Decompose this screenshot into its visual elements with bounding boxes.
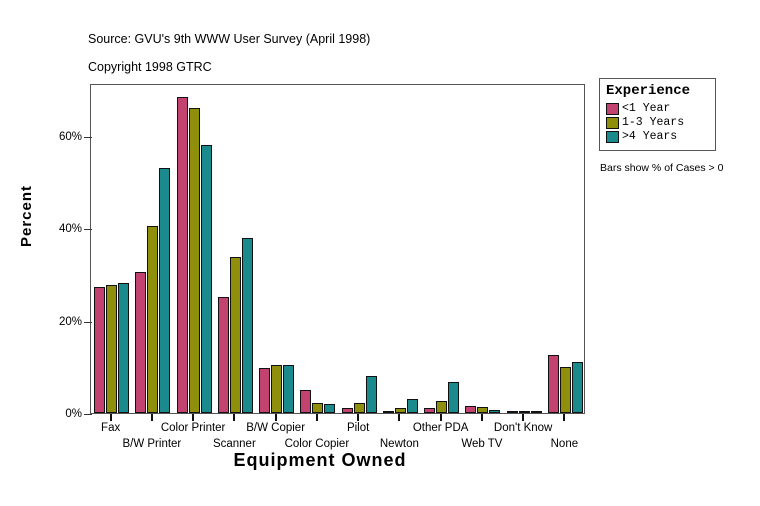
x-axis-tick-label: B/W Printer: [122, 438, 181, 450]
bar: [324, 404, 335, 413]
x-axis-tick-label: None: [551, 438, 579, 450]
x-axis-tick-label: Color Printer: [161, 422, 226, 434]
legend-swatch-icon: [606, 117, 619, 129]
bar: [312, 403, 323, 413]
legend-entry: >4 Years: [606, 130, 709, 143]
bar: [189, 108, 200, 413]
bar: [366, 376, 377, 413]
bar: [531, 411, 542, 413]
bar: [259, 368, 270, 413]
copyright-annotation: Copyright 1998 GTRC: [88, 60, 212, 74]
bar: [383, 411, 394, 413]
bar-group: [339, 85, 380, 413]
legend-entry-label: >4 Years: [622, 130, 677, 143]
bar-group: [462, 85, 503, 413]
bar: [477, 407, 488, 413]
legend-entry-label: <1 Year: [622, 102, 670, 115]
legend-entries: <1 Year1-3 Years>4 Years: [606, 102, 709, 143]
bar: [242, 238, 253, 413]
bar: [489, 410, 500, 413]
legend-swatch-icon: [606, 131, 619, 143]
x-axis-tick-label: Fax: [101, 422, 120, 434]
bar: [106, 285, 117, 413]
bar-group: [504, 85, 545, 413]
bar: [548, 355, 559, 413]
chart-plot-area: [90, 84, 585, 414]
bar: [407, 399, 418, 413]
bar: [283, 365, 294, 413]
y-axis-tick-label: 20%: [59, 316, 82, 328]
y-axis-tick-mark: [84, 229, 92, 230]
bar-group: [297, 85, 338, 413]
bar: [519, 411, 530, 413]
bar: [507, 411, 518, 413]
y-axis-tick-mark: [84, 322, 92, 323]
bar: [424, 408, 435, 413]
legend-entry: 1-3 Years: [606, 116, 709, 129]
y-axis-tick-label: 60%: [59, 131, 82, 143]
bar-group: [421, 85, 462, 413]
bars-layer: [91, 85, 584, 413]
bar-group: [380, 85, 421, 413]
bar: [218, 297, 229, 413]
x-axis-tick-label: Color Copier: [285, 438, 350, 450]
x-axis-tick-label: Newton: [380, 438, 419, 450]
bar-group: [91, 85, 132, 413]
bar: [354, 403, 365, 413]
source-annotation: Source: GVU's 9th WWW User Survey (April…: [88, 32, 370, 46]
bar: [560, 367, 571, 413]
legend-note: Bars show % of Cases > 0: [600, 162, 723, 174]
x-axis-tick-label: Scanner: [213, 438, 256, 450]
bar-group: [174, 85, 215, 413]
x-axis-tick-label: Don't Know: [494, 422, 552, 434]
x-axis-tick-label: Pilot: [347, 422, 369, 434]
bar: [395, 408, 406, 413]
bar-group: [256, 85, 297, 413]
y-axis-tick-label: 0%: [65, 408, 82, 420]
bar-group: [132, 85, 173, 413]
bar: [118, 283, 129, 413]
y-axis-title: Percent: [18, 185, 35, 247]
bar: [147, 226, 158, 413]
bar: [342, 408, 353, 413]
y-axis-tick-label: 40%: [59, 223, 82, 235]
bar: [230, 257, 241, 413]
bar: [201, 145, 212, 413]
legend: Experience <1 Year1-3 Years>4 Years: [599, 78, 716, 151]
bar: [159, 168, 170, 413]
legend-swatch-icon: [606, 103, 619, 115]
bar: [177, 97, 188, 413]
x-axis-tick-label: Other PDA: [413, 422, 469, 434]
bar: [448, 382, 459, 413]
legend-entry: <1 Year: [606, 102, 709, 115]
bar: [436, 401, 447, 413]
bar: [572, 362, 583, 413]
y-axis-tick-mark: [84, 137, 92, 138]
bar-group: [215, 85, 256, 413]
legend-entry-label: 1-3 Years: [622, 116, 684, 129]
x-axis-tick-label: Web TV: [461, 438, 502, 450]
y-axis-tick-labels: 0%20%40%60%: [40, 84, 82, 414]
x-axis-title: Equipment Owned: [0, 450, 640, 471]
bar: [271, 365, 282, 413]
bar: [465, 406, 476, 413]
x-axis-tick-labels: FaxB/W PrinterColor PrinterScannerB/W Co…: [90, 420, 585, 454]
x-axis-tick-label: B/W Copier: [246, 422, 305, 434]
bar-group: [545, 85, 586, 413]
bar: [300, 390, 311, 413]
y-axis-tick-mark: [84, 414, 92, 415]
bar: [135, 272, 146, 413]
legend-title: Experience: [606, 83, 709, 99]
bar: [94, 287, 105, 413]
